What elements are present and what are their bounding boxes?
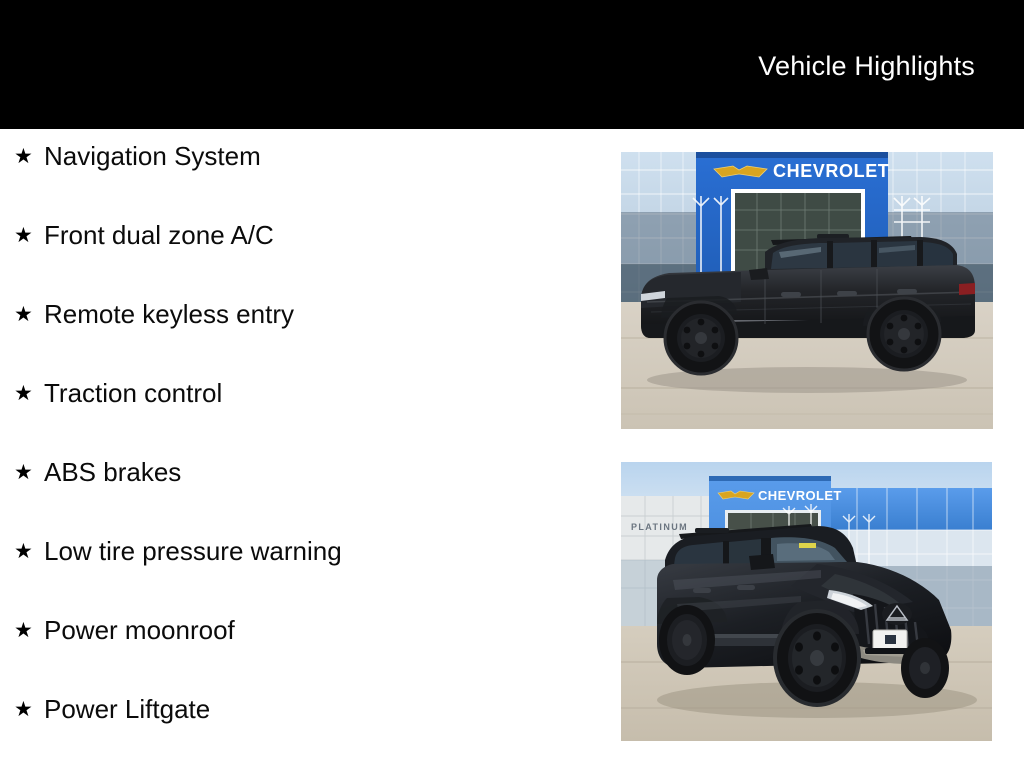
rear-wheel: [659, 605, 715, 675]
list-item: ★ Traction control: [14, 376, 222, 410]
highlight-label: Power moonroof: [44, 615, 235, 645]
vehicle-photo-side-profile[interactable]: CHEVROLET: [621, 152, 993, 429]
highlight-label: Remote keyless entry: [44, 299, 294, 329]
list-item: ★ Low tire pressure warning: [14, 534, 342, 568]
star-icon: ★: [14, 383, 36, 404]
star-icon: ★: [14, 304, 36, 325]
star-icon: ★: [14, 620, 36, 641]
front-wheel: [664, 301, 738, 375]
star-icon: ★: [14, 225, 36, 246]
vehicle-photo-front-three-quarter[interactable]: PLATINUM CHEVROLET: [621, 462, 992, 741]
list-item: ★ Power moonroof: [14, 613, 235, 647]
star-icon: ★: [14, 541, 36, 562]
highlight-label: Navigation System: [44, 141, 261, 171]
highlight-label: Front dual zone A/C: [44, 220, 274, 250]
highlight-label: ABS brakes: [44, 457, 181, 487]
list-item: ★ Remote keyless entry: [14, 297, 294, 331]
list-item: ★ Front dual zone A/C: [14, 218, 274, 252]
dealership-signage-text: CHEVROLET: [773, 161, 889, 181]
vehicle-side-profile-illustration: CHEVROLET: [621, 152, 993, 429]
opposite-front-wheel: [901, 638, 949, 698]
list-item: ★ Power Liftgate: [14, 692, 210, 726]
highlight-label: Power Liftgate: [44, 694, 210, 724]
highlight-label: Traction control: [44, 378, 222, 408]
page-title: Vehicle Highlights: [758, 50, 975, 82]
list-item: ★ ABS brakes: [14, 455, 181, 489]
front-wheel: [774, 610, 860, 706]
lexus-emblem-icon: [882, 603, 912, 625]
list-item: ★ Navigation System: [14, 139, 261, 173]
star-icon: ★: [14, 146, 36, 167]
highlight-label: Low tire pressure warning: [44, 536, 342, 566]
vehicle-highlights-list: ★ Navigation System ★ Front dual zone A/…: [0, 129, 600, 768]
rear-wheel: [867, 297, 941, 371]
header-bar: Vehicle Highlights: [0, 0, 1024, 129]
star-icon: ★: [14, 699, 36, 720]
star-icon: ★: [14, 462, 36, 483]
vehicle-front-quarter-illustration: PLATINUM CHEVROLET: [621, 462, 992, 741]
dealership-signage-text: CHEVROLET: [758, 488, 842, 503]
secondary-signage-text: PLATINUM: [631, 522, 688, 532]
